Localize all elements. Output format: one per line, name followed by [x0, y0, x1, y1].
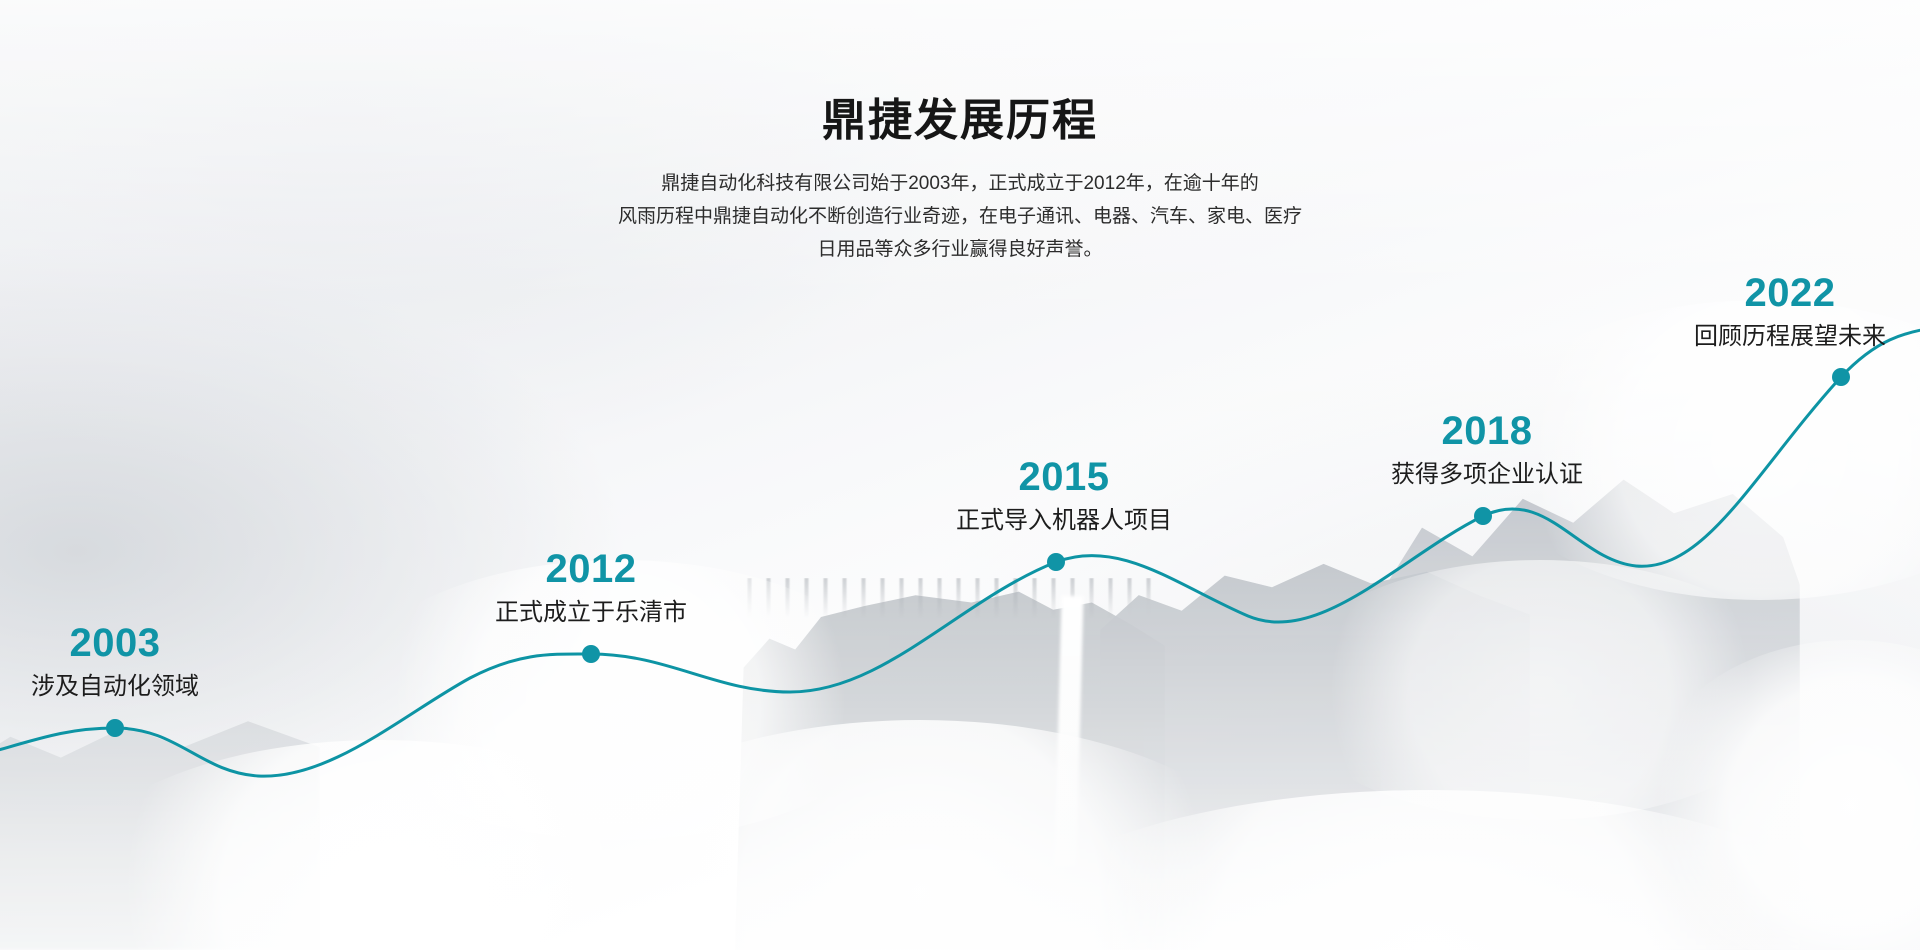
milestone-description: 获得多项企业认证 [1391, 460, 1583, 490]
milestone-year: 2022 [1694, 272, 1886, 314]
milestone-year: 2015 [956, 456, 1172, 498]
timeline-dot-2012[interactable] [582, 645, 600, 663]
milestone-2012[interactable]: 2012正式成立于乐清市 [495, 548, 687, 628]
milestone-year: 2003 [31, 622, 199, 664]
timeline-infographic: 鼎捷发展历程 鼎捷自动化科技有限公司始于2003年，正式成立于2012年，在逾十… [0, 0, 1920, 950]
milestone-2018[interactable]: 2018获得多项企业认证 [1391, 410, 1583, 490]
page-title: 鼎捷发展历程 [0, 96, 1920, 147]
milestone-description: 涉及自动化领域 [31, 672, 199, 702]
milestone-2022[interactable]: 2022回顾历程展望未来 [1694, 272, 1886, 352]
page-subtitle: 鼎捷自动化科技有限公司始于2003年，正式成立于2012年，在逾十年的 风雨历程… [560, 167, 1360, 267]
milestone-2015[interactable]: 2015正式导入机器人项目 [956, 456, 1172, 536]
milestone-description: 正式成立于乐清市 [495, 598, 687, 628]
subtitle-line-3: 日用品等众多行业赢得良好声誉。 [560, 233, 1360, 266]
timeline-dot-2022[interactable] [1832, 368, 1850, 386]
header: 鼎捷发展历程 鼎捷自动化科技有限公司始于2003年，正式成立于2012年，在逾十… [0, 96, 1920, 266]
subtitle-line-2: 风雨历程中鼎捷自动化不断创造行业奇迹，在电子通讯、电器、汽车、家电、医疗 [560, 200, 1360, 233]
timeline-dots [106, 368, 1850, 737]
milestone-description: 正式导入机器人项目 [956, 506, 1172, 536]
timeline-dot-2003[interactable] [106, 719, 124, 737]
milestone-year: 2018 [1391, 410, 1583, 452]
milestone-2003[interactable]: 2003涉及自动化领域 [31, 622, 199, 702]
milestone-description: 回顾历程展望未来 [1694, 322, 1886, 352]
timeline-dot-2018[interactable] [1474, 507, 1492, 525]
timeline-dot-2015[interactable] [1047, 553, 1065, 571]
subtitle-line-1: 鼎捷自动化科技有限公司始于2003年，正式成立于2012年，在逾十年的 [560, 167, 1360, 200]
milestone-year: 2012 [495, 548, 687, 590]
timeline-path [0, 326, 1920, 776]
